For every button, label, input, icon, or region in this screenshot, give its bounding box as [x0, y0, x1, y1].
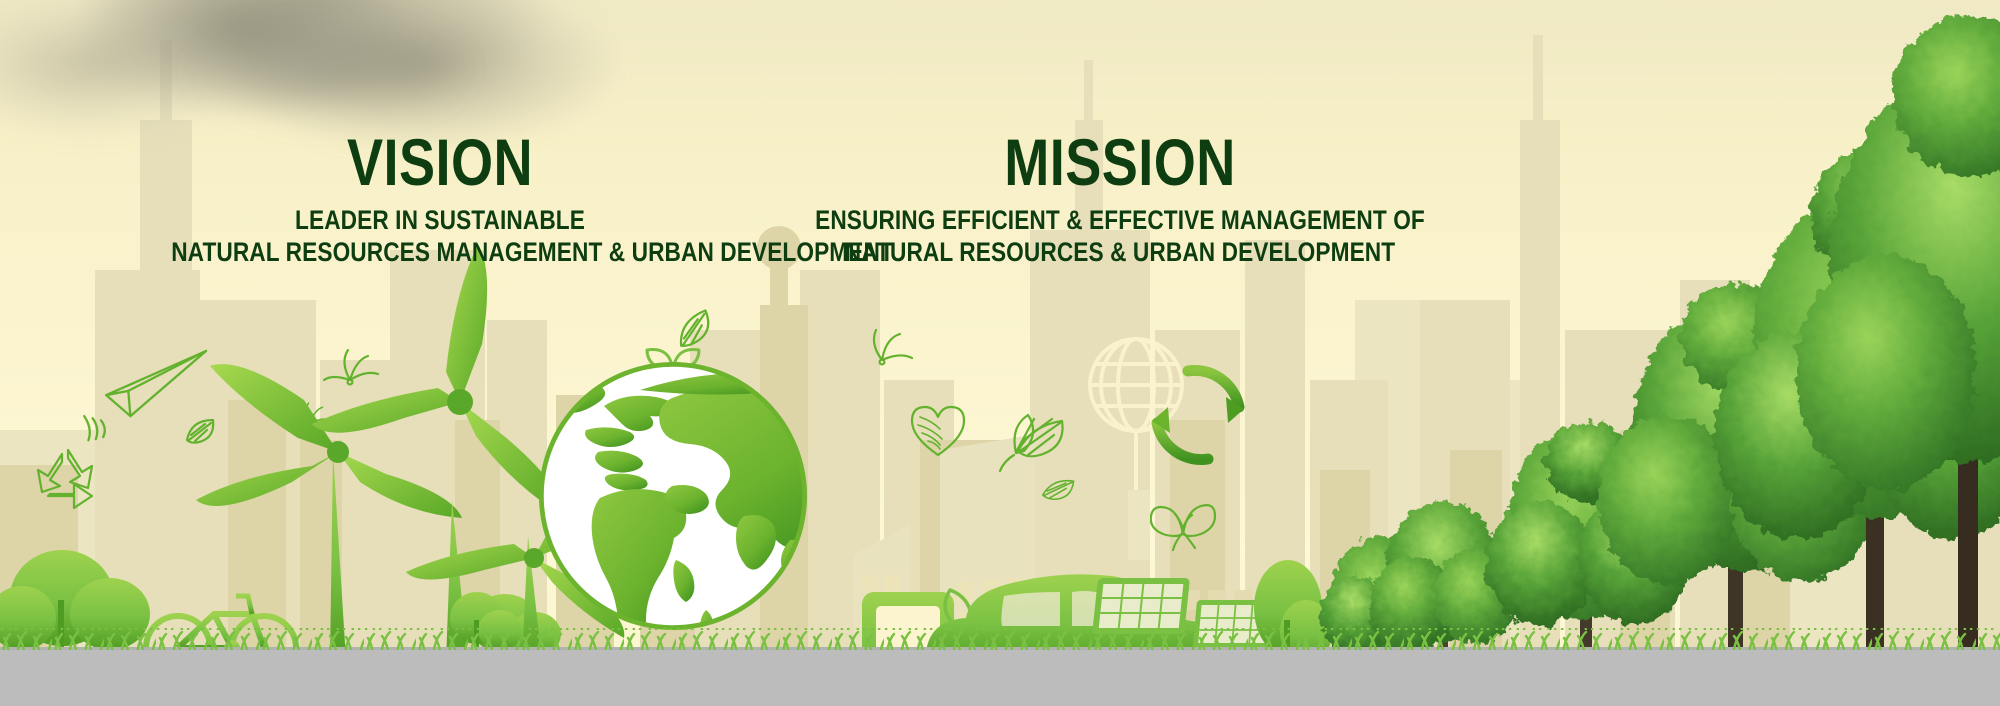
vision-block: VISION LEADER IN SUSTAINABLE NATURAL RES…: [120, 132, 760, 268]
mission-line-1: ENSURING EFFICIENT & EFFECTIVE MANAGEMEN…: [750, 205, 1489, 237]
vision-line-1: LEADER IN SUSTAINABLE: [171, 205, 709, 237]
mission-heading: MISSION: [759, 132, 1481, 193]
vision-line-2: NATURAL RESOURCES MANAGEMENT & URBAN DEV…: [171, 237, 709, 269]
vision-heading: VISION: [178, 132, 703, 193]
mission-line-2: NATURAL RESOURCES & URBAN DEVELOPMENT: [750, 237, 1489, 269]
road-surface: [0, 650, 2000, 706]
mission-block: MISSION ENSURING EFFICIENT & EFFECTIVE M…: [680, 132, 1560, 268]
eco-city-banner: VISION LEADER IN SUSTAINABLE NATURAL RES…: [0, 0, 2000, 706]
